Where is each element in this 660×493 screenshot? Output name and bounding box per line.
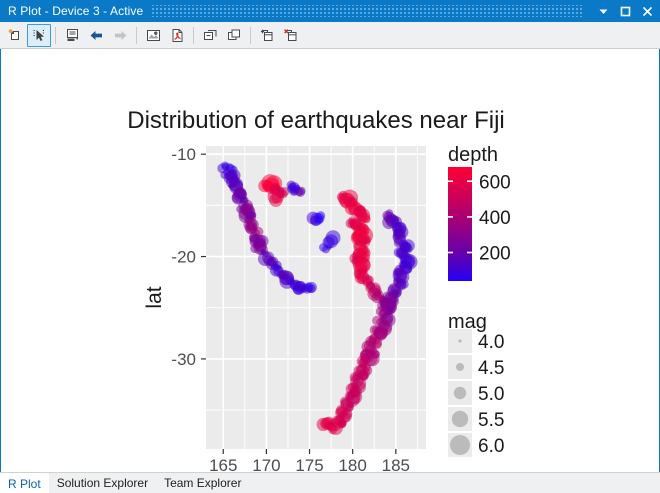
data-point bbox=[315, 216, 323, 224]
x-axis-tick-label: 180 bbox=[338, 456, 366, 472]
data-point bbox=[307, 284, 316, 293]
x-axis-tick-label: 170 bbox=[252, 456, 280, 472]
window-title-bar: R Plot - Device 3 - Active bbox=[0, 0, 660, 22]
chart-title: Distribution of earthquakes near Fiji bbox=[127, 107, 505, 134]
legend-mag-key-point bbox=[458, 339, 461, 342]
legend-depth-title: depth bbox=[448, 144, 498, 166]
data-point bbox=[268, 189, 282, 203]
ggplot-figure: Distribution of earthquakes near Fiji165… bbox=[1, 49, 659, 472]
legend-mag-key-label: 4.5 bbox=[478, 358, 504, 379]
tab-team-explorer[interactable]: Team Explorer bbox=[156, 473, 249, 493]
remove-device-window-button[interactable] bbox=[279, 24, 303, 47]
tab-r-plot[interactable]: R Plot bbox=[0, 473, 49, 493]
plot-canvas-area[interactable]: Distribution of earthquakes near Fiji165… bbox=[0, 49, 660, 472]
data-point bbox=[319, 243, 328, 252]
toolbar-separator bbox=[55, 27, 56, 44]
r-plot-tool-window: R Plot - Device 3 - Active bbox=[0, 0, 660, 493]
x-axis-tick-label: 175 bbox=[295, 456, 323, 472]
data-point bbox=[321, 417, 334, 430]
legend-mag-key-label: 5.5 bbox=[478, 410, 504, 431]
legend-mag-key-label: 5.0 bbox=[478, 384, 504, 405]
dropdown-icon[interactable] bbox=[592, 0, 614, 22]
copy-as-metafile-button[interactable] bbox=[222, 24, 246, 47]
toolbar-separator bbox=[136, 27, 137, 44]
legend-depth-tick-label: 600 bbox=[479, 172, 511, 193]
activate-plot-device-button[interactable] bbox=[27, 24, 51, 47]
data-point bbox=[297, 187, 305, 195]
maximize-icon[interactable] bbox=[614, 0, 636, 22]
x-axis-tick-label: 165 bbox=[209, 456, 237, 472]
window-title: R Plot - Device 3 - Active bbox=[8, 4, 143, 18]
next-plot-button[interactable] bbox=[108, 24, 132, 47]
previous-plot-button[interactable] bbox=[84, 24, 108, 47]
legend-mag-key-label: 4.0 bbox=[478, 332, 504, 353]
tab-solution-explorer[interactable]: Solution Explorer bbox=[49, 473, 156, 493]
legend-depth-tick-label: 200 bbox=[479, 244, 511, 265]
toolbar-separator bbox=[193, 27, 194, 44]
tool-window-tab-strip: R Plot Solution Explorer Team Explorer bbox=[0, 472, 660, 493]
new-plot-device-button[interactable] bbox=[3, 24, 27, 47]
legend-mag-key-point bbox=[452, 411, 468, 427]
save-as-pdf-button[interactable] bbox=[165, 24, 189, 47]
legend-depth-colorbar bbox=[448, 167, 472, 281]
tab-solution-explorer-label: Solution Explorer bbox=[57, 476, 148, 490]
x-axis-tick-label: 185 bbox=[382, 456, 410, 472]
plot-toolbar bbox=[0, 22, 660, 49]
window-controls bbox=[592, 0, 660, 22]
tab-r-plot-label: R Plot bbox=[8, 477, 41, 491]
legend-mag-key-label: 6.0 bbox=[478, 436, 504, 457]
toolbar-separator bbox=[250, 27, 251, 44]
legend-mag-key-point bbox=[456, 363, 464, 371]
plot-history-button[interactable] bbox=[60, 24, 84, 47]
title-bar-drag-handle[interactable] bbox=[151, 5, 584, 17]
legend-depth-tick-label: 400 bbox=[479, 208, 511, 229]
legend-mag-key-point bbox=[454, 387, 466, 399]
y-axis-tick-label: -30 bbox=[171, 350, 196, 369]
save-as-image-button[interactable] bbox=[141, 24, 165, 47]
close-icon[interactable] bbox=[636, 0, 658, 22]
y-axis-tick-label: -20 bbox=[171, 248, 196, 267]
data-point bbox=[348, 402, 354, 408]
plot-svg: Distribution of earthquakes near Fiji165… bbox=[1, 49, 659, 472]
y-axis-title: lat bbox=[143, 286, 166, 308]
copy-as-bitmap-button[interactable] bbox=[198, 24, 222, 47]
data-point bbox=[362, 215, 370, 223]
legend-mag-key-point bbox=[450, 435, 470, 455]
tab-team-explorer-label: Team Explorer bbox=[164, 476, 241, 490]
y-axis-tick-label: -10 bbox=[171, 145, 196, 164]
new-device-window-button[interactable] bbox=[255, 24, 279, 47]
